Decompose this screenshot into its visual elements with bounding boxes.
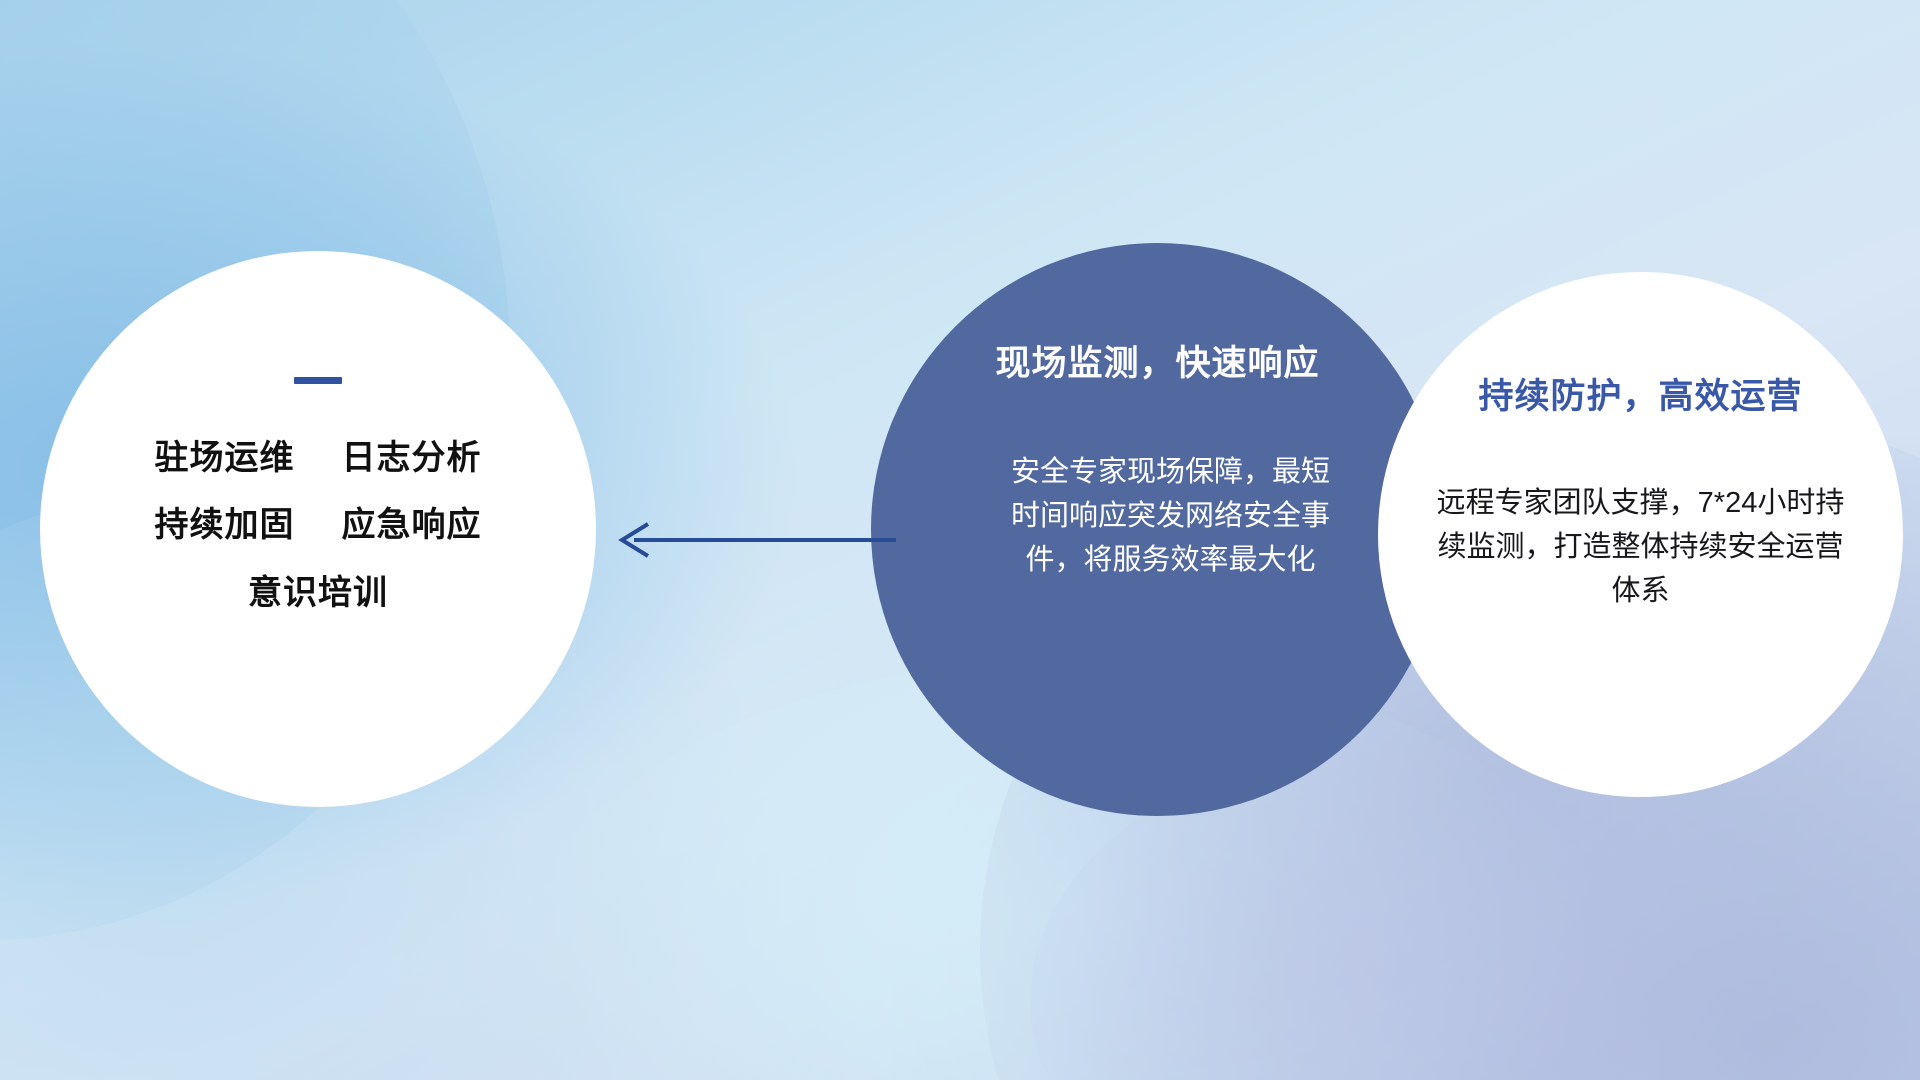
list-item: 驻场运维 日志分析 xyxy=(155,440,482,477)
right-circle-card[interactable]: 持续防护，高效运营 远程专家团队支撑，7*24小时持续监测，打造整体持续安全运营… xyxy=(1378,272,1903,797)
left-circle-keyword-list: 驻场运维 日志分析 持续加固 应急响应 意识培训 xyxy=(40,440,596,612)
list-item: 意识培训 xyxy=(248,575,388,612)
list-item: 持续加固 应急响应 xyxy=(155,507,482,544)
keyword-label: 日志分析 xyxy=(341,439,481,477)
left-circle-card[interactable]: 驻场运维 日志分析 持续加固 应急响应 意识培训 xyxy=(40,251,596,807)
keyword-label: 意识培训 xyxy=(248,574,388,612)
keyword-label: 驻场运维 xyxy=(155,439,295,477)
right-circle-body: 远程专家团队支撑，7*24小时持续监测，打造整体持续安全运营体系 xyxy=(1431,481,1851,613)
flow-arrow-left-icon xyxy=(608,518,898,562)
mid-circle-card[interactable]: 现场监测，快速响应 安全专家现场保障，最短时间响应突发网络安全事件，将服务效率最… xyxy=(871,243,1444,816)
slide-canvas: 现场监测，快速响应 安全专家现场保障，最短时间响应突发网络安全事件，将服务效率最… xyxy=(0,0,1920,1080)
mid-circle-body: 安全专家现场保障，最短时间响应突发网络安全事件，将服务效率最大化 xyxy=(1006,450,1336,582)
accent-dash-icon xyxy=(294,377,342,384)
keyword-label: 应急响应 xyxy=(341,506,481,544)
right-circle-title: 持续防护，高效运营 xyxy=(1478,368,1802,419)
mid-circle-title: 现场监测，快速响应 xyxy=(995,335,1319,386)
keyword-label: 持续加固 xyxy=(155,506,295,544)
